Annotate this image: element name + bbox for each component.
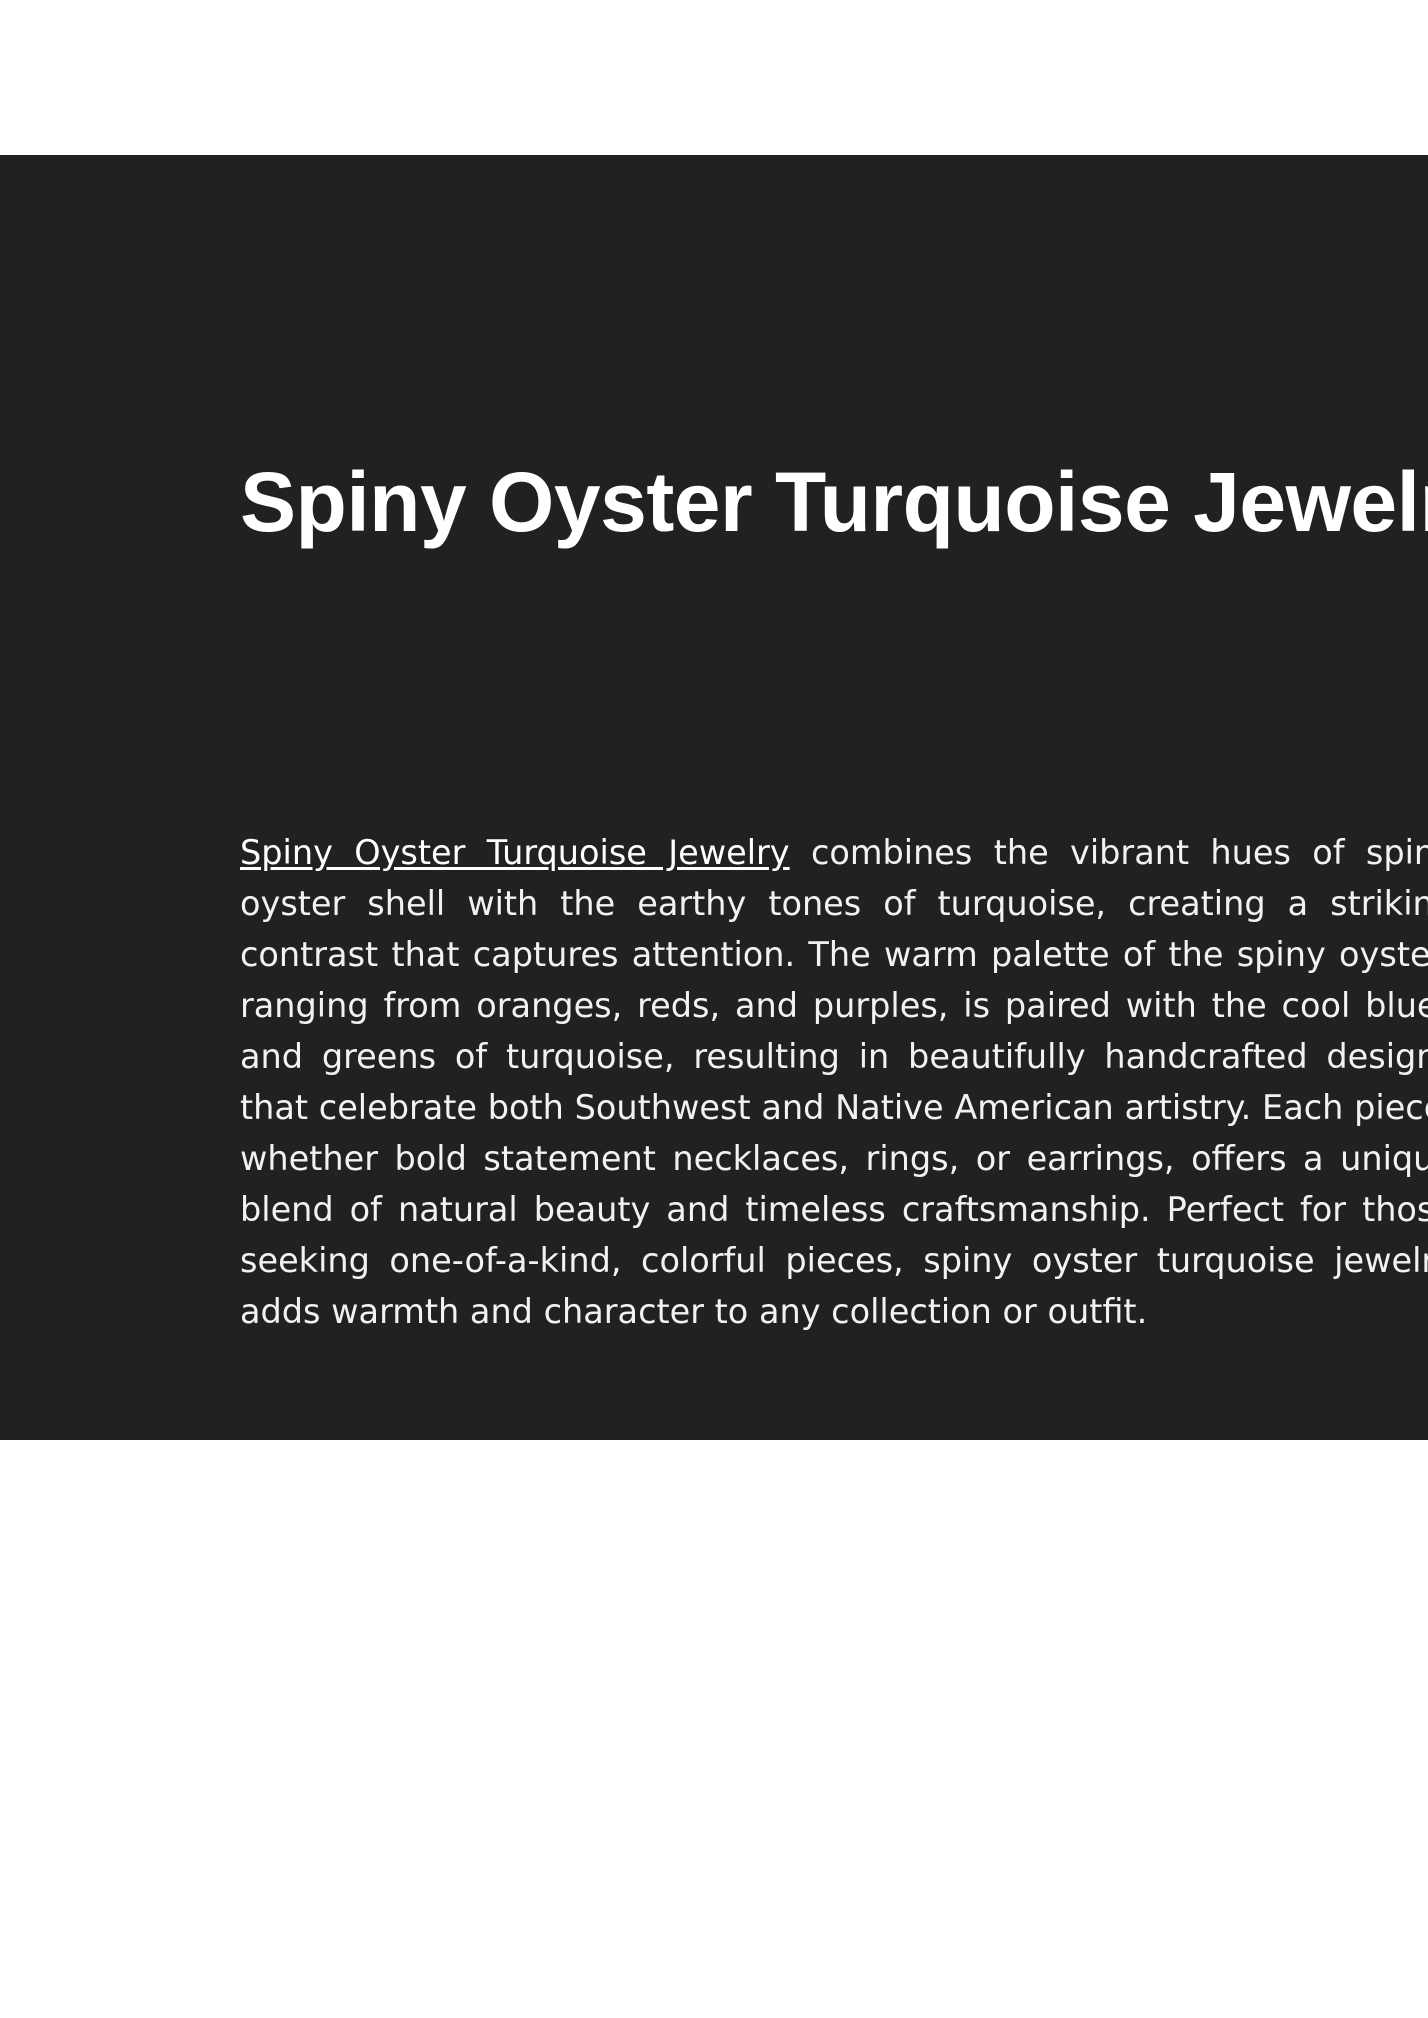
hero-description: Spiny Oyster Turquoise Jewelry combines … [240, 827, 1428, 1337]
spiny-oyster-turquoise-jewelry-link[interactable]: Spiny Oyster Turquoise Jewelry [240, 833, 790, 872]
page-title: Spiny Oyster Turquoise Jewelry [240, 450, 1428, 556]
hero-panel: Spiny Oyster Turquoise Jewelry Spiny Oys… [0, 155, 1428, 1440]
hero-description-text: combines the vibrant hues of spiny oyste… [240, 833, 1428, 1331]
